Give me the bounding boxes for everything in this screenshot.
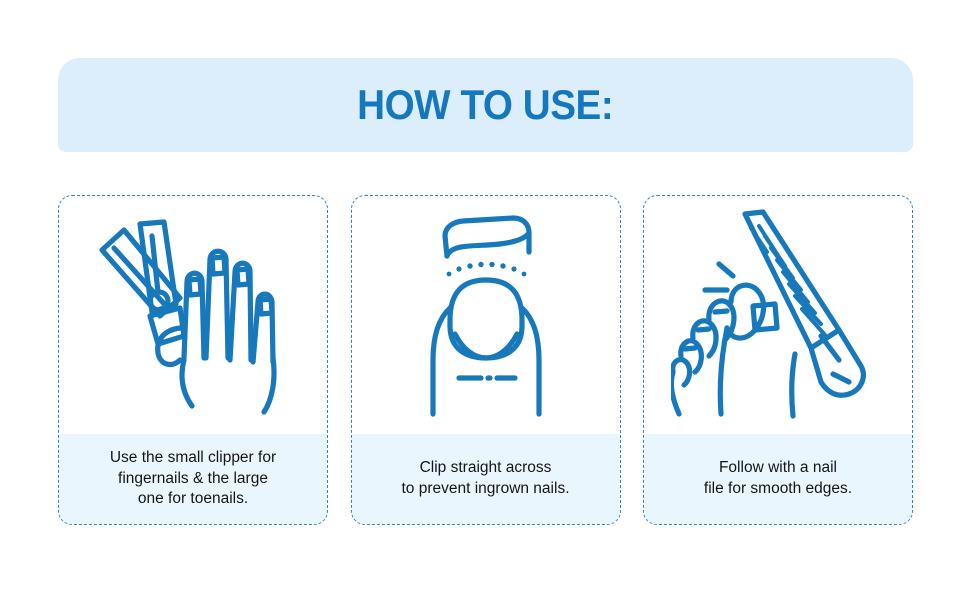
step-card-2: Clip straight across to prevent ingrown … xyxy=(351,195,621,525)
header-banner: HOW TO USE: xyxy=(58,58,913,152)
finger-straight-clip-icon xyxy=(411,208,561,423)
step-card-1: Use the small clipper for fingernails & … xyxy=(58,195,328,525)
steps-row: Use the small clipper for fingernails & … xyxy=(58,195,913,525)
step-card-3: Follow with a nail file for smooth edges… xyxy=(643,195,913,525)
foot-with-nail-file-icon xyxy=(671,208,886,423)
step-3-caption-text: Follow with a nail file for smooth edges… xyxy=(704,458,852,500)
step-2-caption: Clip straight across to prevent ingrown … xyxy=(352,434,620,524)
step-1-illustration xyxy=(59,196,327,434)
step-3-illustration xyxy=(644,196,912,434)
infographic-page: HOW TO USE: xyxy=(0,0,970,600)
step-1-caption-text: Use the small clipper for fingernails & … xyxy=(110,448,276,511)
page-title: HOW TO USE: xyxy=(357,81,613,129)
step-1-caption: Use the small clipper for fingernails & … xyxy=(59,434,327,524)
step-3-caption: Follow with a nail file for smooth edges… xyxy=(644,434,912,524)
step-2-illustration xyxy=(352,196,620,434)
step-2-caption-text: Clip straight across to prevent ingrown … xyxy=(401,458,569,500)
hand-with-nail-clipper-icon xyxy=(88,208,298,423)
